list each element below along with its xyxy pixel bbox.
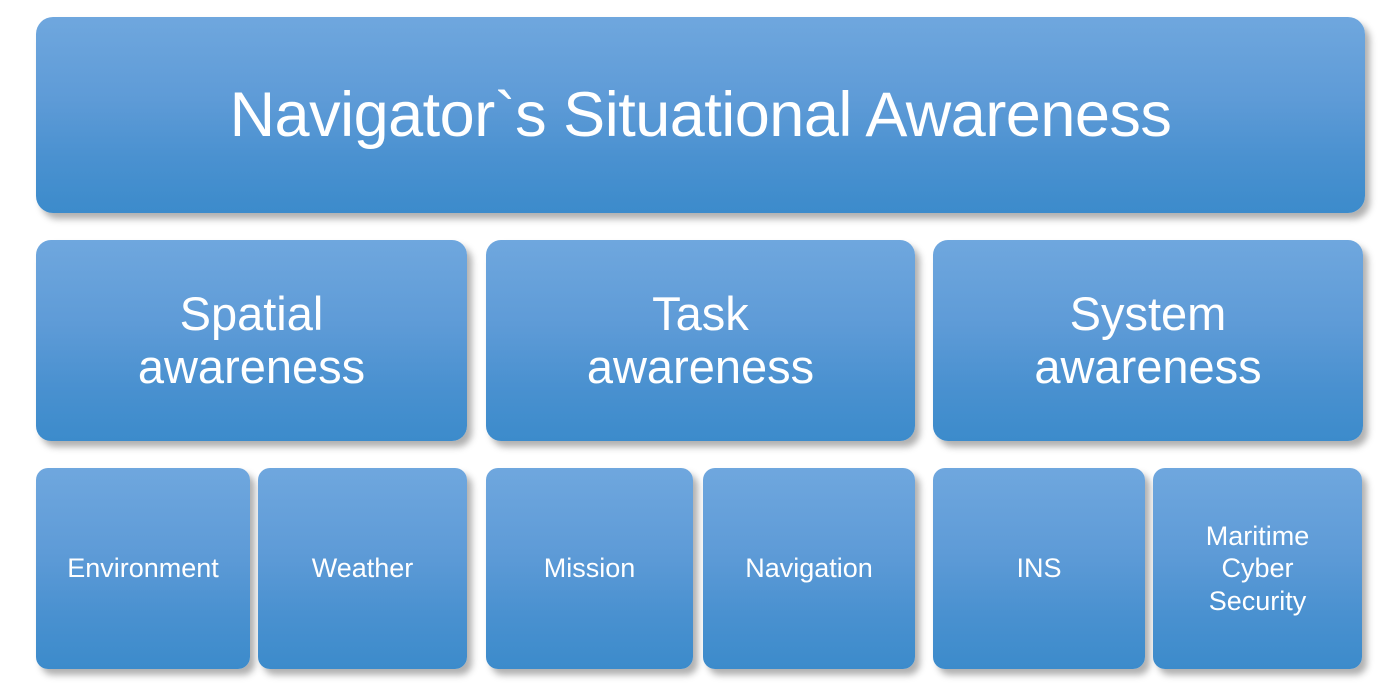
diagram-canvas: Navigator`s Situational Awareness Spatia…	[0, 0, 1400, 697]
node-mission[interactable]: Mission	[486, 468, 693, 669]
node-maritime-cyber-security-label: Maritime Cyber Security	[1206, 520, 1310, 617]
node-maritime-cyber-security[interactable]: Maritime Cyber Security	[1153, 468, 1362, 669]
node-title-label: Navigator`s Situational Awareness	[230, 82, 1172, 148]
node-system-awareness-label: System awareness	[1034, 288, 1261, 393]
node-environment-label: Environment	[67, 552, 219, 584]
node-weather-label: Weather	[312, 552, 414, 584]
node-spatial-awareness-label: Spatial awareness	[138, 288, 365, 393]
node-navigation-label: Navigation	[745, 552, 873, 584]
node-weather[interactable]: Weather	[258, 468, 467, 669]
node-environment[interactable]: Environment	[36, 468, 250, 669]
node-task-awareness[interactable]: Task awareness	[486, 240, 915, 441]
node-navigators-situational-awareness[interactable]: Navigator`s Situational Awareness	[36, 17, 1365, 213]
node-ins[interactable]: INS	[933, 468, 1145, 669]
node-system-awareness[interactable]: System awareness	[933, 240, 1363, 441]
node-task-awareness-label: Task awareness	[587, 288, 814, 393]
node-mission-label: Mission	[544, 552, 636, 584]
node-navigation[interactable]: Navigation	[703, 468, 915, 669]
node-spatial-awareness[interactable]: Spatial awareness	[36, 240, 467, 441]
node-ins-label: INS	[1016, 552, 1061, 584]
